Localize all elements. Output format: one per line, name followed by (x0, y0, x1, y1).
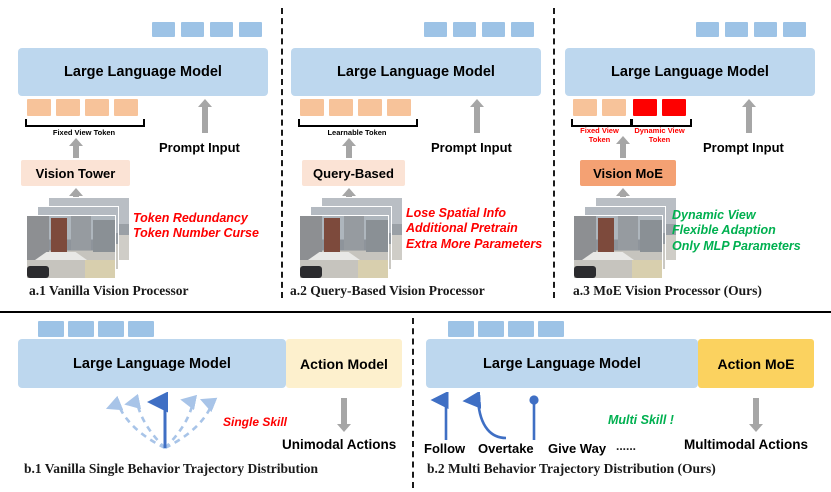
panel-b2: Large Language Model Action MoE Follow O… (412, 313, 831, 492)
vision-token (387, 99, 411, 116)
behavior-ellipsis: ...... (616, 439, 636, 453)
vision-token (358, 99, 382, 116)
behavior-label-overtake: Overtake (478, 441, 534, 456)
output-token (508, 321, 534, 337)
output-token (239, 22, 262, 37)
multimodal-actions-label: Multimodal Actions (684, 437, 808, 452)
llm-box: Large Language Model (18, 339, 286, 388)
panel-caption: b.1 Vanilla Single Behavior Trajectory D… (24, 461, 318, 477)
arrow-up-icon (342, 138, 356, 158)
vision-token (114, 99, 138, 116)
llm-label: Large Language Model (483, 356, 641, 372)
panel-b1: Large Language Model Action Model Single… (0, 313, 412, 492)
output-token (478, 321, 504, 337)
arrow-down-icon (749, 398, 763, 432)
panel-caption: a.1 Vanilla Vision Processor (29, 283, 189, 299)
multi-behavior-trajectory (430, 392, 600, 444)
advantage-note-line: Only MLP Parameters (672, 239, 801, 254)
limitation-note-line: Lose Spatial Info (406, 206, 542, 221)
output-token (424, 22, 447, 37)
fixed-view-token (573, 99, 597, 116)
llm-label: Large Language Model (73, 356, 231, 372)
dynamic-view-token (662, 99, 686, 116)
llm-box: Large Language Model (426, 339, 698, 388)
dynamic-view-token-label: Dynamic View Token (625, 126, 694, 145)
query-based-label: Query-Based (313, 166, 394, 181)
panel-divider-vertical (281, 8, 283, 298)
output-token (448, 321, 474, 337)
token-bracket (25, 119, 145, 127)
arrow-up-icon (69, 138, 83, 158)
dynamic-view-token-label-line2: Token (625, 135, 694, 144)
output-token (38, 321, 64, 337)
prompt-input-label: Prompt Input (431, 140, 512, 155)
limitation-note-line: Extra More Parameters (406, 237, 542, 252)
limitation-note: Lose Spatial Info Additional Pretrain Ex… (406, 206, 542, 252)
arrow-up-icon (742, 99, 756, 133)
action-model-box: Action Model (286, 339, 402, 388)
output-token (98, 321, 124, 337)
advantage-note: Dynamic View Flexible Adaption Only MLP … (672, 208, 801, 254)
arrow-up-icon (198, 99, 212, 133)
output-token (482, 22, 505, 37)
behavior-label-give-way: Give Way (548, 441, 606, 456)
action-model-label: Action Model (300, 356, 388, 372)
camera-image-stack (300, 198, 405, 280)
output-token (210, 22, 233, 37)
llm-label: Large Language Model (337, 64, 495, 80)
action-moe-box: Action MoE (698, 339, 814, 388)
token-bracket-label: Learnable Token (298, 128, 416, 137)
camera-image-stack (27, 198, 132, 280)
vision-moe-label: Vision MoE (593, 166, 663, 181)
llm-label: Large Language Model (64, 64, 222, 80)
panel-a2: Large Language Model Learnable Token Pro… (281, 0, 553, 300)
output-token (128, 321, 154, 337)
image-sheet (27, 216, 115, 278)
panel-divider-vertical (412, 318, 414, 488)
output-token (511, 22, 534, 37)
vision-token (27, 99, 51, 116)
prompt-input-label: Prompt Input (703, 140, 784, 155)
advantage-note-line: Dynamic View (672, 208, 801, 223)
arrow-up-icon (616, 136, 630, 158)
prompt-input-label: Prompt Input (159, 140, 240, 155)
output-token (754, 22, 777, 37)
camera-image-stack (574, 198, 679, 280)
output-token (783, 22, 806, 37)
figure-root: Large Language Model Fixed View Token Pr… (0, 0, 831, 492)
image-sheet (300, 216, 388, 278)
panel-caption: a.2 Query-Based Vision Processor (290, 283, 485, 299)
panel-caption: a.3 MoE Vision Processor (Ours) (573, 283, 762, 299)
output-token (181, 22, 204, 37)
output-token (696, 22, 719, 37)
advantage-note-line: Flexible Adaption (672, 223, 801, 238)
behavior-label-follow: Follow (424, 441, 465, 456)
fixed-view-token-label-line1: Fixed View (565, 126, 634, 135)
llm-box: Large Language Model (18, 48, 268, 96)
output-token (152, 22, 175, 37)
output-token (538, 321, 564, 337)
vision-tower-label: Vision Tower (36, 166, 116, 181)
token-bracket-label: Fixed View Token (25, 128, 143, 137)
vision-moe-box: Vision MoE (580, 160, 676, 186)
vision-token (300, 99, 324, 116)
panel-a1: Large Language Model Fixed View Token Pr… (0, 0, 281, 300)
panel-a3: Large Language Model Fixed View Token Dy… (553, 0, 831, 300)
action-moe-label: Action MoE (718, 356, 795, 372)
output-token (725, 22, 748, 37)
llm-label: Large Language Model (611, 64, 769, 80)
llm-box: Large Language Model (291, 48, 541, 96)
limitation-note-line: Additional Pretrain (406, 221, 542, 236)
dynamic-view-token (633, 99, 657, 116)
vision-token (329, 99, 353, 116)
unimodal-actions-label: Unimodal Actions (282, 437, 396, 452)
arrow-up-icon (470, 99, 484, 133)
token-bracket (298, 119, 418, 127)
llm-box: Large Language Model (565, 48, 815, 96)
multi-skill-note: Multi Skill ! (608, 413, 674, 428)
arrow-down-icon (337, 398, 351, 432)
fixed-view-token (602, 99, 626, 116)
limitation-note-line: Token Redundancy (133, 211, 259, 226)
query-based-box: Query-Based (302, 160, 405, 186)
limitation-note-line: Token Number Curse (133, 226, 259, 241)
vision-token (85, 99, 109, 116)
panel-caption: b.2 Multi Behavior Trajectory Distributi… (427, 461, 716, 477)
output-token (453, 22, 476, 37)
single-skill-note: Single Skill (223, 415, 287, 430)
output-token (68, 321, 94, 337)
single-behavior-trajectory (105, 392, 225, 452)
dynamic-view-token-label-line1: Dynamic View (625, 126, 694, 135)
image-sheet (574, 216, 662, 278)
vision-tower-box: Vision Tower (21, 160, 130, 186)
vision-token (56, 99, 80, 116)
panel-divider-vertical (553, 8, 555, 298)
limitation-note: Token Redundancy Token Number Curse (133, 211, 259, 242)
